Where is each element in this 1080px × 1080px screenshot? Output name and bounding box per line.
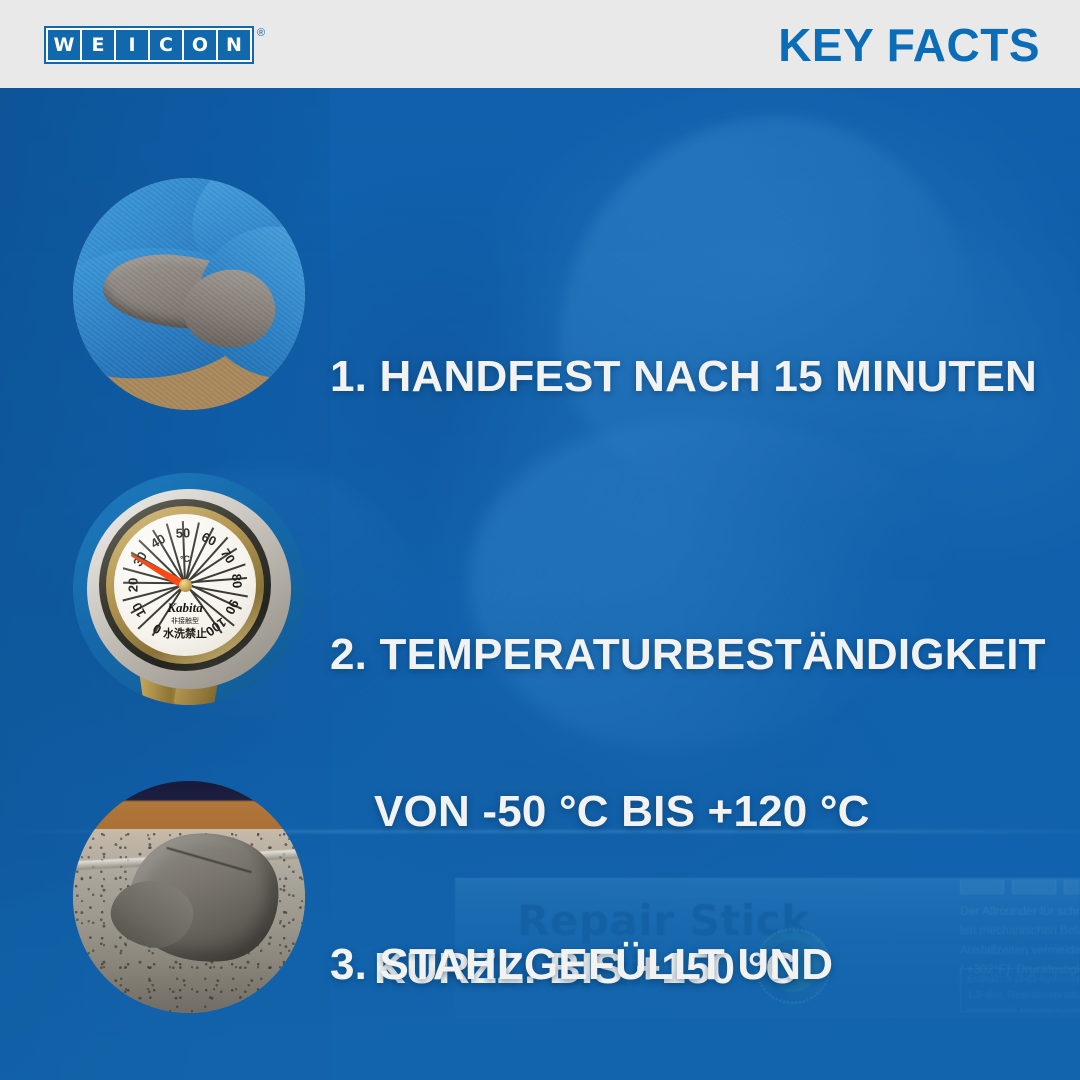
page-title: KEY FACTS (778, 18, 1040, 73)
fact-image-1-gloved-hands-kneading-putty (73, 178, 305, 410)
logo-letter-e: E (82, 30, 114, 60)
fact-3-line-1: 3. STAHLGEFÜLLT UND (330, 939, 833, 991)
header-bar: W E I C O N ® KEY FACTS (0, 0, 1080, 88)
logo-letter-i: I (116, 30, 148, 60)
key-facts-infographic: W E I C O N ® KEY FACTS Repair Stick Mul… (0, 0, 1080, 1080)
fact-2-line-2: VON -50 °C BIS +120 °C (330, 786, 1046, 838)
weicon-logo-frame: W E I C O N (44, 26, 254, 64)
logo-letter-n: N (218, 30, 250, 60)
fact-text-1: 1. HANDFEST NACH 15 MINUTEN (330, 246, 1037, 508)
registered-trademark-icon: ® (257, 27, 265, 39)
weicon-logo[interactable]: W E I C O N ® (44, 26, 265, 64)
logo-letter-c: C (150, 30, 182, 60)
circle1-texture-overlay (73, 178, 305, 410)
fact-image-2-analog-thermometer: 0102030405060708090100 °C Kabita 非接触型 水洗… (73, 473, 305, 705)
fact-image-3-putty-on-metal (73, 781, 305, 1013)
fact-2-line-1: 2. TEMPERATURBESTÄNDIGKEIT (330, 629, 1046, 681)
fact-text-3: 3. STAHLGEFÜLLT UND DUNKELGRAU (330, 834, 833, 1080)
fact-1-line-1: 1. HANDFEST NACH 15 MINUTEN (330, 351, 1037, 403)
logo-letter-w: W (48, 30, 80, 60)
thermometer-dial-face: 0102030405060708090100 °C Kabita 非接触型 水洗… (114, 514, 256, 656)
thermometer-glass-reflection (114, 514, 256, 656)
logo-letter-o: O (184, 30, 216, 60)
